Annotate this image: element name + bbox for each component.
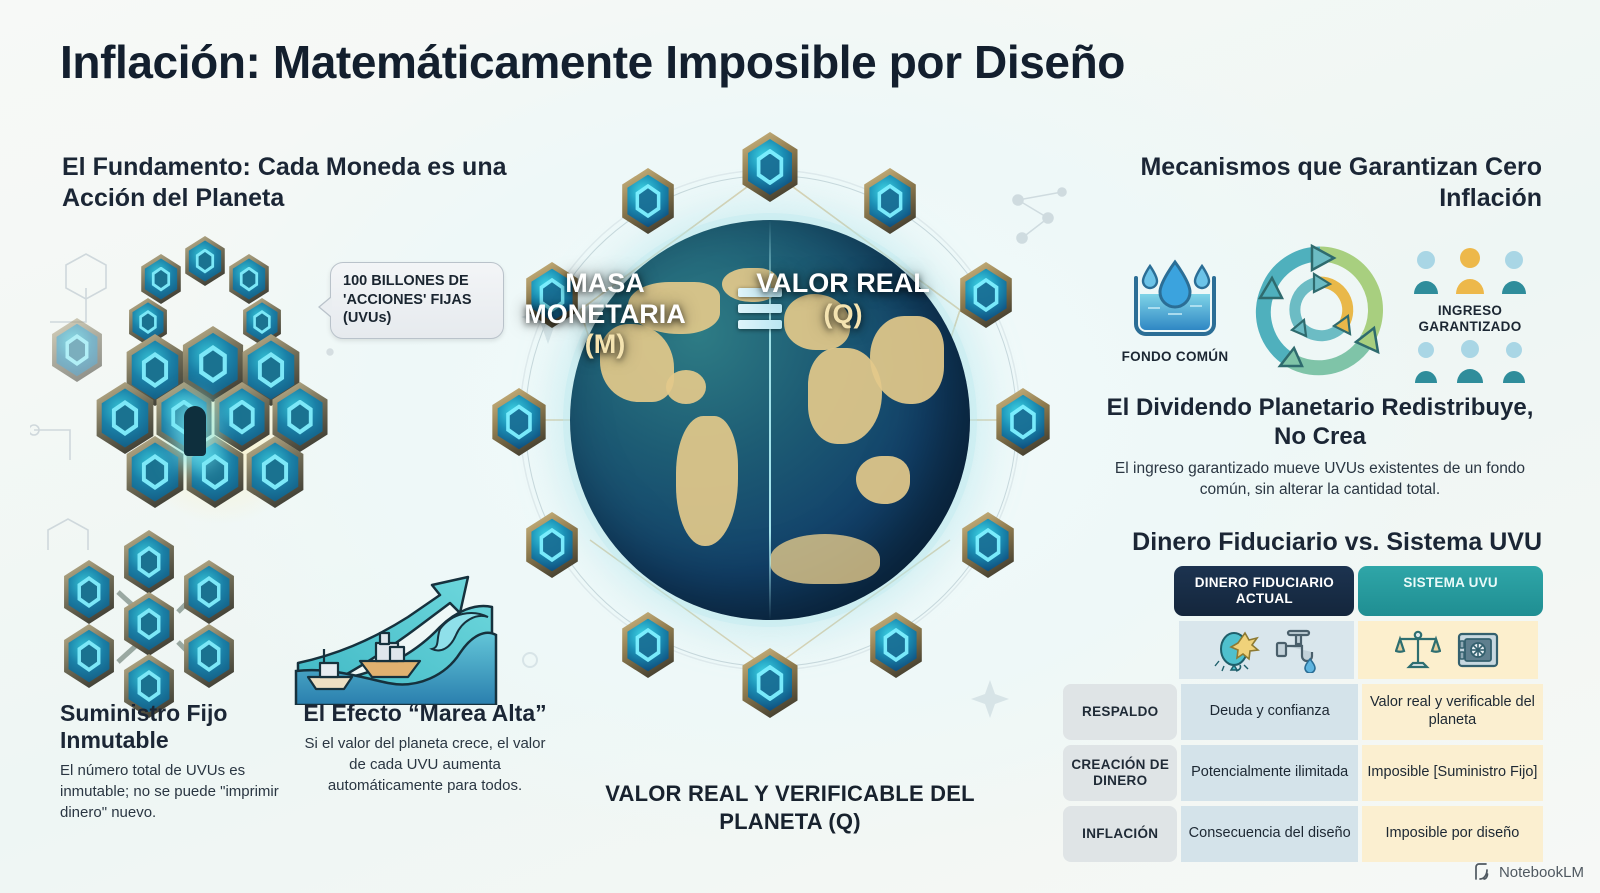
row-label: CREACIÓN DE DINERO — [1063, 745, 1177, 801]
hex-cell — [60, 560, 118, 624]
hex-cell — [60, 624, 118, 688]
column-header-uvu: SISTEMA UVU — [1358, 566, 1543, 616]
notebooklm-logo-icon — [1473, 863, 1493, 881]
table-row: RESPALDO Deuda y confianza Valor real y … — [1063, 684, 1543, 740]
row-fiat-value: Potencialmente ilimitada — [1181, 745, 1357, 801]
orbit-hex-token — [956, 262, 1016, 328]
table-row: INFLACIÓN Consecuencia del diseño Imposi… — [1063, 806, 1543, 862]
hex-cell — [180, 560, 238, 624]
masa-monetaria-symbol: (M) — [585, 329, 625, 359]
balance-scales-icon — [1395, 627, 1441, 673]
masa-monetaria-label: MASA MONETARIA (M) — [500, 268, 710, 360]
orbit-hex-token — [618, 612, 678, 678]
orbit-hex-token — [860, 168, 920, 234]
supply-block-body: El número total de UVUs es inmutable; no… — [60, 761, 290, 823]
decorative-network-lines — [30, 230, 360, 550]
column-header-fiat: DINERO FIDUCIARIO ACTUAL — [1174, 566, 1354, 616]
orbit-hex-token — [958, 512, 1018, 578]
row-label: INFLACIÓN — [1063, 806, 1177, 862]
supply-block: Suministro Fijo Inmutable El número tota… — [60, 700, 290, 823]
row-uvu-value: Imposible [Suministro Fijo] — [1362, 745, 1543, 801]
row-uvu-value: Valor real y verificable del planeta — [1362, 684, 1543, 740]
mechanism-ingreso-garantizado: INGRESO GARANTIZADO — [1400, 248, 1540, 388]
water-pool-droplet-icon — [1120, 250, 1230, 340]
mechanism-caption: FONDO COMÚN — [1110, 349, 1240, 365]
orbit-hex-token — [618, 168, 678, 234]
people-group-icon — [1400, 248, 1540, 294]
comparison-heading: Dinero Fiduciario vs. Sistema UVU — [1090, 528, 1542, 557]
people-group-icon-secondary — [1400, 339, 1540, 383]
dividend-body: El ingreso garantizado mueve UVUs existe… — [1100, 458, 1540, 501]
page-title: Inflación: Matemáticamente Imposible por… — [60, 38, 1540, 87]
mechanism-cycle — [1250, 240, 1390, 387]
hex-cell — [180, 624, 238, 688]
hex-cell — [120, 592, 178, 656]
orbit-hex-token — [522, 512, 582, 578]
valor-real-label: VALOR REAL (Q) — [738, 268, 948, 329]
safe-vault-icon — [1455, 627, 1501, 673]
table-row: CREACIÓN DE DINERO Potencialmente ilimit… — [1063, 745, 1543, 801]
hex-cell — [120, 530, 178, 594]
globe-caption: VALOR REAL Y VERIFICABLE DEL PLANETA (Q) — [560, 780, 1020, 835]
table-header-row: DINERO FIDUCIARIO ACTUAL SISTEMA UVU — [1063, 566, 1543, 616]
valor-real-symbol: (Q) — [824, 299, 863, 329]
masa-monetaria-text: MASA MONETARIA — [524, 268, 686, 329]
infographic-canvas: Inflación: Matemáticamente Imposible por… — [0, 0, 1600, 893]
hex-cell — [48, 318, 106, 382]
supply-block-title: Suministro Fijo Inmutable — [60, 700, 290, 754]
uvu-icon-cell — [1358, 621, 1538, 679]
hexagon-padlock-icon — [30, 230, 360, 550]
dividend-block: El Dividendo Planetario Redistribuye, No… — [1100, 394, 1540, 501]
orbit-hex-token — [738, 132, 802, 202]
mechanism-fondo-comun: FONDO COMÚN — [1110, 250, 1240, 365]
right-column-heading: Mecanismos que Garantizan Cero Inflación — [1090, 152, 1542, 213]
left-column-heading: El Fundamento: Cada Moneda es una Acción… — [62, 152, 522, 213]
rising-tide-boats-icon — [290, 555, 500, 705]
watermark-text: NotebookLM — [1499, 864, 1584, 881]
row-fiat-value: Consecuencia del diseño — [1181, 806, 1357, 862]
orbit-hex-token — [738, 648, 802, 718]
comparison-table: DINERO FIDUCIARIO ACTUAL SISTEMA UVU — [1063, 566, 1543, 867]
notebooklm-watermark: NotebookLM — [1473, 863, 1584, 881]
recycle-cycle-arrows-icon — [1250, 240, 1390, 378]
faucet-drip-icon — [1274, 627, 1320, 673]
globe-scene — [470, 120, 1070, 780]
orbit-hex-token — [992, 388, 1054, 456]
orbit-hex-token — [866, 612, 926, 678]
mechanisms-icon-row: FONDO COMÚN — [1110, 240, 1540, 380]
valor-real-text: VALOR REAL — [756, 268, 930, 298]
balloon-burst-icon — [1214, 627, 1260, 673]
mechanism-caption: INGRESO GARANTIZADO — [1400, 303, 1540, 335]
fiat-icon-cell — [1179, 621, 1354, 679]
row-label: RESPALDO — [1063, 684, 1177, 740]
dividend-title: El Dividendo Planetario Redistribuye, No… — [1100, 394, 1540, 452]
table-icon-row — [1063, 621, 1543, 679]
orbit-hex-token — [488, 388, 550, 456]
row-uvu-value: Imposible por diseño — [1362, 806, 1543, 862]
row-fiat-value: Deuda y confianza — [1181, 684, 1357, 740]
